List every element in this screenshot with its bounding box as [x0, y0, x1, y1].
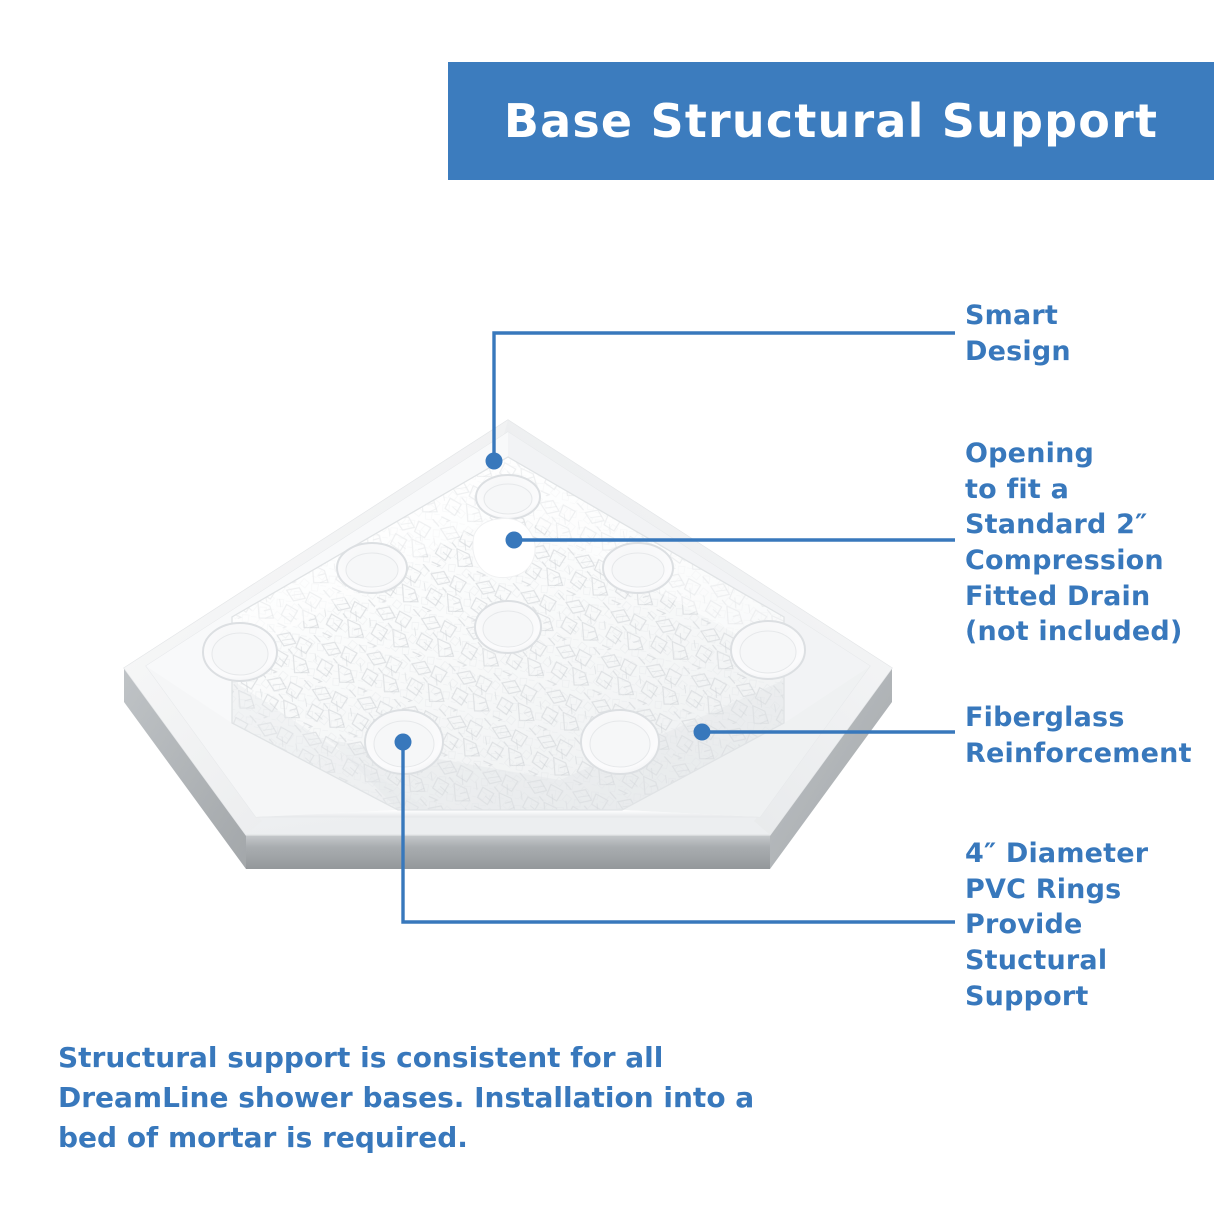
drain-opening-hole	[473, 518, 535, 577]
callout-label-smart-design: Smart Design	[965, 298, 1210, 369]
pvc-ring	[203, 623, 277, 681]
callout-label-drain-opening: Opening to fit a Standard 2″ Compression…	[965, 436, 1210, 650]
pvc-ring	[581, 710, 659, 774]
pvc-ring	[603, 543, 673, 593]
pvc-ring	[731, 621, 805, 679]
pvc-ring	[475, 601, 541, 653]
page-title: Base Structural Support	[504, 94, 1158, 148]
base-side-wall-front	[246, 835, 770, 869]
pvc-ring	[365, 710, 443, 774]
footer-note: Structural support is consistent for all…	[58, 1038, 798, 1157]
product-illustration	[0, 380, 960, 910]
callout-label-fiberglass-reinforcement: Fiberglass Reinforcement	[965, 700, 1214, 771]
pvc-ring	[337, 543, 407, 593]
callout-label-pvc-rings: 4″ Diameter PVC Rings Provide Stuctural …	[965, 836, 1210, 1014]
header-banner: Base Structural Support	[448, 62, 1214, 180]
neo-angle-shower-base-svg	[0, 380, 960, 910]
pvc-ring	[476, 475, 540, 519]
